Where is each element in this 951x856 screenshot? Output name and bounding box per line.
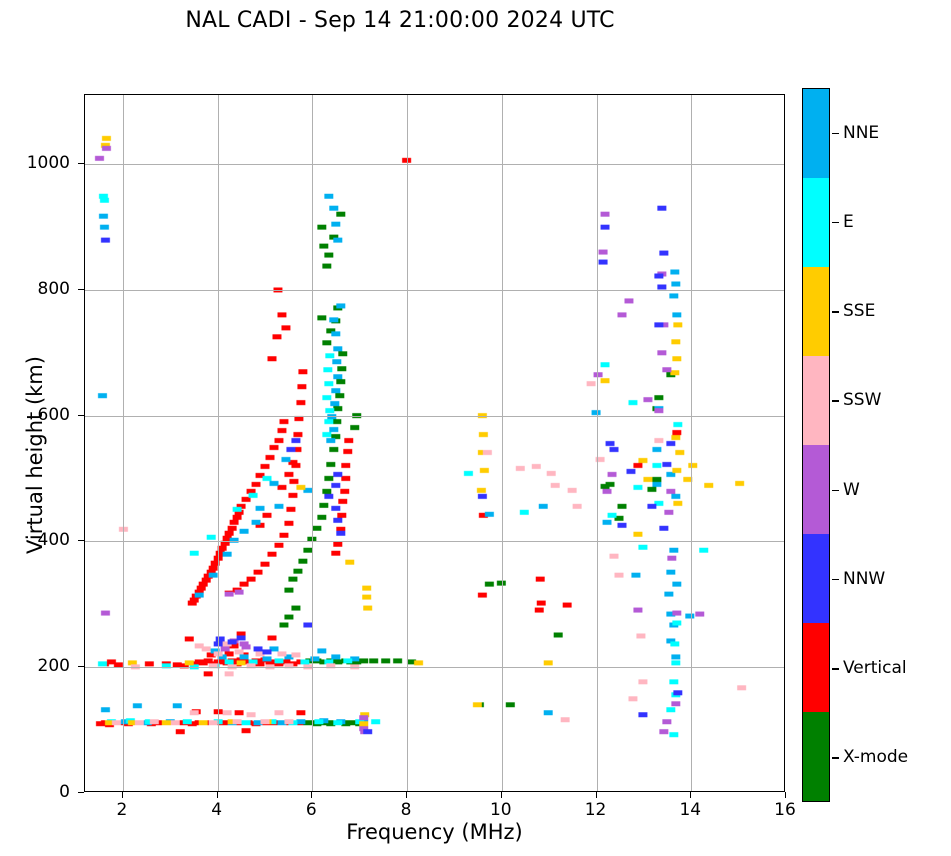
- colorbar-tick: [832, 222, 839, 223]
- colorbar-segment-nnw: [803, 534, 829, 623]
- colorbar-segment-vertical: [803, 623, 829, 712]
- gridline-horizontal: [85, 416, 784, 417]
- x-axis-tick: [122, 792, 123, 798]
- colorbar-tick: [832, 579, 839, 580]
- x-axis-tick-label: 2: [116, 800, 127, 820]
- colorbar-segment-w: [803, 445, 829, 534]
- gridline-vertical: [691, 95, 692, 791]
- gridline-vertical: [597, 95, 598, 791]
- colorbar-segment-e: [803, 178, 829, 267]
- colorbar-segment-ssw: [803, 356, 829, 445]
- y-axis-tick: [78, 163, 84, 164]
- x-axis-tick-label: 6: [306, 800, 317, 820]
- colorbar-label-x-mode: X-mode: [843, 747, 908, 767]
- y-axis-label: Virtual height (km): [23, 275, 47, 635]
- x-axis-tick: [406, 792, 407, 798]
- gridline-vertical: [502, 95, 503, 791]
- gridline-vertical: [312, 95, 313, 791]
- y-axis-tick: [78, 415, 84, 416]
- x-axis-tick-label: 8: [401, 800, 412, 820]
- colorbar-tick: [832, 400, 839, 401]
- colorbar-segment-x-mode: [803, 712, 829, 801]
- y-axis-tick: [78, 540, 84, 541]
- gridline-horizontal: [85, 164, 784, 165]
- gridline-vertical: [218, 95, 219, 791]
- colorbar-segment-sse: [803, 267, 829, 356]
- x-axis-tick-label: 16: [774, 800, 796, 820]
- colorbar-segment-nne: [803, 89, 829, 178]
- colorbar-tick: [832, 668, 839, 669]
- colorbar-label-nnw: NNW: [843, 569, 885, 589]
- x-axis-tick: [217, 792, 218, 798]
- colorbar-tick: [832, 490, 839, 491]
- y-axis-tick: [78, 792, 84, 793]
- x-axis-label: Frequency (MHz): [84, 820, 785, 844]
- x-axis-tick-label: 14: [679, 800, 701, 820]
- y-axis-tick-label: 0: [59, 782, 70, 802]
- colorbar-label-sse: SSE: [843, 301, 875, 321]
- gridline-horizontal: [85, 290, 784, 291]
- x-axis-tick: [311, 792, 312, 798]
- colorbar-label-e: E: [843, 212, 854, 232]
- gridline-horizontal: [85, 667, 784, 668]
- colorbar-tick: [832, 133, 839, 134]
- colorbar-tick: [832, 311, 839, 312]
- y-axis-tick-label: 200: [38, 656, 70, 676]
- x-axis-tick-label: 10: [490, 800, 512, 820]
- x-axis-tick-label: 12: [585, 800, 607, 820]
- x-axis-tick: [596, 792, 597, 798]
- x-axis-tick: [690, 792, 691, 798]
- gridline-horizontal: [85, 541, 784, 542]
- x-axis-tick: [785, 792, 786, 798]
- colorbar-label-nne: NNE: [843, 123, 879, 143]
- colorbar-label-w: W: [843, 480, 860, 500]
- x-axis-tick: [501, 792, 502, 798]
- plot-area: [84, 94, 785, 792]
- gridline-vertical: [123, 95, 124, 791]
- colorbar-tick: [832, 757, 839, 758]
- page-title: NAL CADI - Sep 14 21:00:00 2024 UTC: [0, 8, 800, 33]
- y-axis-tick: [78, 289, 84, 290]
- colorbar: [802, 88, 830, 802]
- ionogram-scatter-canvas: [85, 95, 784, 791]
- gridline-vertical: [407, 95, 408, 791]
- y-axis-tick: [78, 666, 84, 667]
- y-axis-tick-label: 1000: [27, 153, 70, 173]
- x-axis-tick-label: 4: [211, 800, 222, 820]
- colorbar-label-ssw: SSW: [843, 390, 881, 410]
- colorbar-label-vertical: Vertical: [843, 658, 907, 678]
- ionogram-page: NAL CADI - Sep 14 21:00:00 2024 UTC 2468…: [0, 0, 951, 856]
